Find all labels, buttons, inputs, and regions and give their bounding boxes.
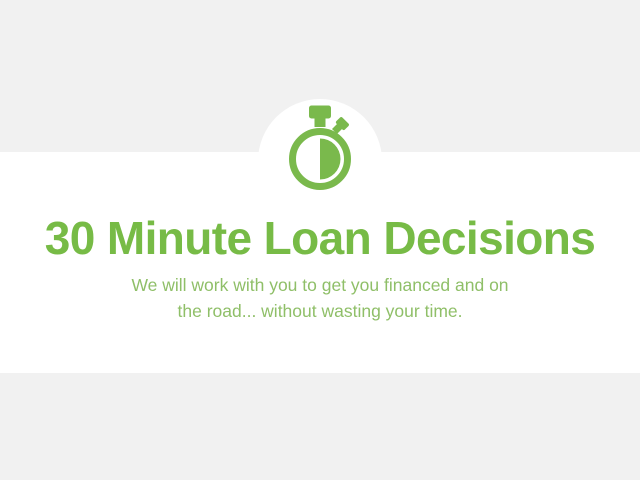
page-title: 30 Minute Loan Decisions [0,212,640,264]
page-subtitle-line-1: We will work with you to get you finance… [70,272,570,298]
page-subtitle: We will work with you to get you finance… [70,272,570,324]
stopwatch-icon [276,104,364,192]
slide-canvas: 30 Minute Loan Decisions We will work wi… [0,0,640,480]
page-subtitle-line-2: the road... without wasting your time. [70,298,570,324]
